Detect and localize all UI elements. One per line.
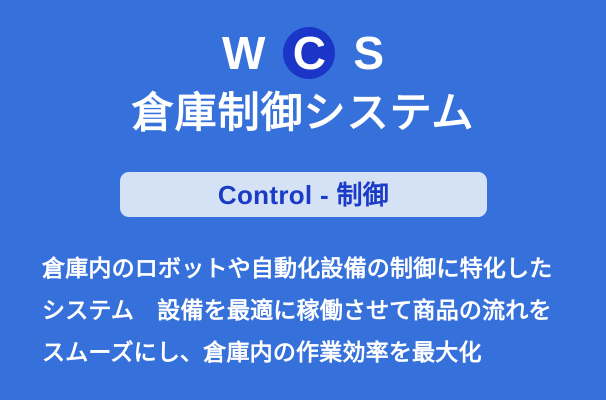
logo-letter-c-highlight: C <box>283 27 335 79</box>
logo-letter-c: C <box>293 30 326 76</box>
description-line-2: システム 設備を最適に稼働させて商品の流れを <box>42 289 582 331</box>
logo-wordmark: W C S <box>0 18 606 88</box>
description-block: 倉庫内のロボットや自動化設備の制御に特化した システム 設備を最適に稼働させて商… <box>42 247 582 373</box>
wcs-info-card: W C S 倉庫制御システム Control - 制御 倉庫内のロボットや自動化… <box>0 0 606 400</box>
description-line-3: スムーズにし、倉庫内の作業効率を最大化 <box>42 331 582 373</box>
status-badge: Control - 制御 <box>120 172 487 217</box>
description-line-1: 倉庫内のロボットや自動化設備の制御に特化した <box>42 247 582 289</box>
page-title: 倉庫制御システム <box>0 88 606 138</box>
logo-letter-w: W <box>222 30 265 76</box>
logo-letter-s: S <box>353 30 384 76</box>
status-badge-label: Control - 制御 <box>218 182 389 208</box>
